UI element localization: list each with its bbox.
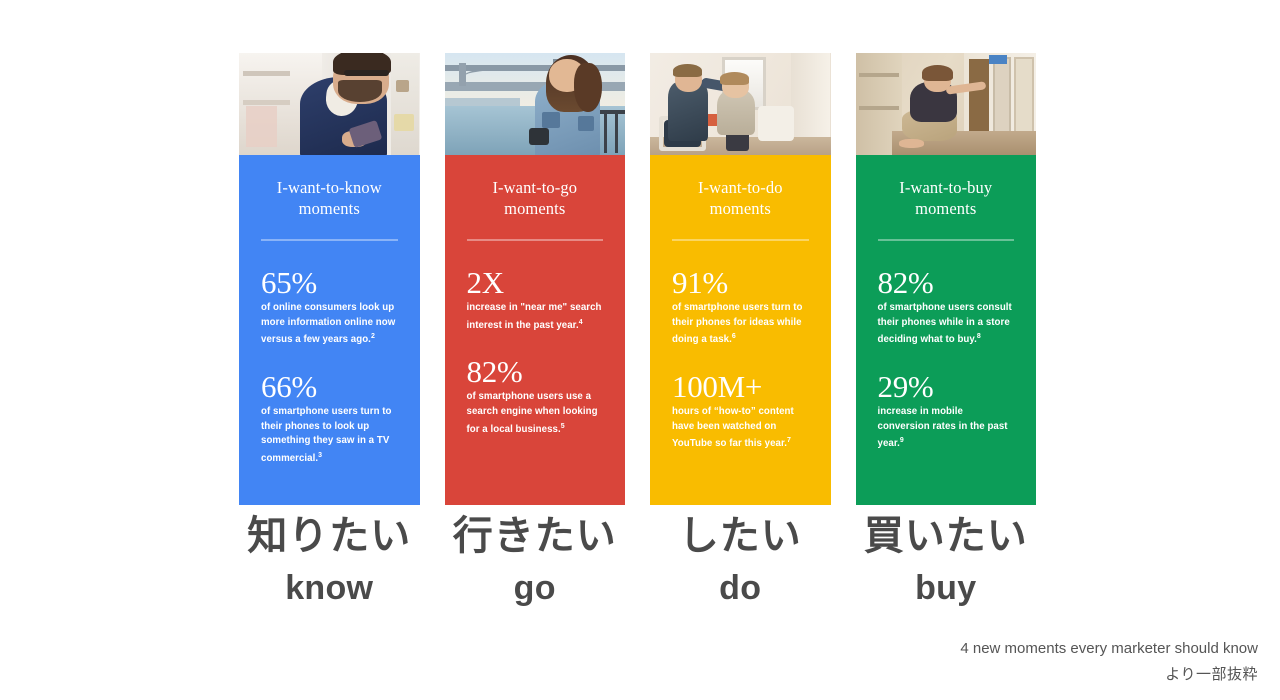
stat-description: of smartphone users use a search engine … [467,390,604,437]
card-stats: 2X increase in "near me" search interest… [467,266,604,437]
stat-description-text: of online consumers look up more informa… [261,302,395,345]
stat-item: 82% of smartphone users use a search eng… [467,355,604,437]
card-title: I-want-to-do moments [672,177,809,219]
card-stats: 82% of smartphone users consult their ph… [878,266,1015,452]
stat-value: 29% [878,370,1015,403]
stat-description: of online consumers look up more informa… [261,301,398,348]
label-japanese: したい [650,508,831,564]
label-do: したい do [650,508,831,612]
stat-value: 2X [467,266,604,299]
card-stats: 91% of smartphone users turn to their ph… [672,266,809,452]
stat-item: 65% of online consumers look up more inf… [261,266,398,348]
card-stats: 65% of online consumers look up more inf… [261,266,398,467]
stat-footnote: 9 [900,437,904,444]
card-title: I-want-to-know moments [261,177,398,219]
card-divider [878,239,1015,241]
label-japanese: 知りたい [239,508,420,564]
stat-item: 66% of smartphone users turn to their ph… [261,370,398,467]
label-japanese: 買いたい [856,508,1037,564]
stat-description-text: increase in "near me" search interest in… [467,302,602,331]
card-i-want-to-buy[interactable]: I-want-to-buy moments 82% of smartphone … [856,53,1037,505]
card-i-want-to-go[interactable]: I-want-to-go moments 2X increase in "nea… [445,53,626,505]
slide-canvas: I-want-to-know moments 65% of online con… [0,0,1280,700]
stat-value: 91% [672,266,809,299]
label-know: 知りたい know [239,508,420,612]
stat-description-text: of smartphone users turn to their phones… [672,302,803,345]
stat-item: 82% of smartphone users consult their ph… [878,266,1015,348]
stat-item: 2X increase in "near me" search interest… [467,266,604,333]
moment-label-row: 知りたい know 行きたい go したい do 買いたい buy [239,508,1036,612]
stat-value: 66% [261,370,398,403]
stat-description-text: increase in mobile conversion rates in t… [878,406,1008,449]
card-i-want-to-do[interactable]: I-want-to-do moments 91% of smartphone u… [650,53,831,505]
man-with-phone-photo [239,53,420,155]
stat-description-text: of smartphone users turn to their phones… [261,406,392,464]
moments-card-row: I-want-to-know moments 65% of online con… [239,53,1036,505]
card-title-line1: I-want-to-know [277,178,382,197]
stat-description: of smartphone users turn to their phones… [672,301,809,348]
stat-footnote: 8 [977,333,981,340]
stat-footnote: 5 [561,423,565,430]
stat-description: of smartphone users consult their phones… [878,301,1015,348]
stat-value: 82% [467,355,604,388]
stat-footnote: 6 [732,333,736,340]
card-title: I-want-to-buy moments [878,177,1015,219]
source-line-2: より一部抜粋 [960,662,1258,688]
card-divider [467,239,604,241]
stat-description-text: of smartphone users consult their phones… [878,302,1012,345]
stat-item: 91% of smartphone users turn to their ph… [672,266,809,348]
label-english: know [239,564,420,612]
stat-description-text: of smartphone users use a search engine … [467,391,598,434]
stat-value: 65% [261,266,398,299]
label-english: buy [856,564,1037,612]
card-title-line1: I-want-to-go [492,178,577,197]
stat-item: 29% increase in mobile conversion rates … [878,370,1015,452]
stat-description: increase in mobile conversion rates in t… [878,405,1015,452]
woman-shopping-in-store-photo [856,53,1037,155]
stat-footnote: 7 [787,437,791,444]
stat-description: hours of “how-to” content have been watc… [672,405,809,452]
label-english: do [650,564,831,612]
source-line-1: 4 new moments every marketer should know [960,636,1258,662]
source-attribution: 4 new moments every marketer should know… [960,636,1258,688]
card-i-want-to-know[interactable]: I-want-to-know moments 65% of online con… [239,53,420,505]
card-title-line1: I-want-to-do [698,178,783,197]
label-english: go [445,564,626,612]
stat-item: 100M+ hours of “how-to” content have bee… [672,370,809,452]
stat-footnote: 4 [579,319,583,326]
stat-footnote: 2 [371,333,375,340]
stat-value: 82% [878,266,1015,299]
card-title-line2: moments [915,199,976,218]
stat-value: 100M+ [672,370,809,403]
card-title-line2: moments [710,199,771,218]
card-divider [261,239,398,241]
card-title-line2: moments [299,199,360,218]
label-go: 行きたい go [445,508,626,612]
stat-footnote: 3 [318,452,322,459]
father-and-child-photo [650,53,831,155]
card-divider [672,239,809,241]
card-title-line1: I-want-to-buy [899,178,992,197]
woman-by-bridge-photo [445,53,626,155]
stat-description: increase in "near me" search interest in… [467,301,604,333]
stat-description-text: hours of “how-to” content have been watc… [672,406,794,449]
stat-description: of smartphone users turn to their phones… [261,405,398,467]
card-title-line2: moments [504,199,565,218]
label-japanese: 行きたい [445,508,626,564]
label-buy: 買いたい buy [856,508,1037,612]
card-title: I-want-to-go moments [467,177,604,219]
